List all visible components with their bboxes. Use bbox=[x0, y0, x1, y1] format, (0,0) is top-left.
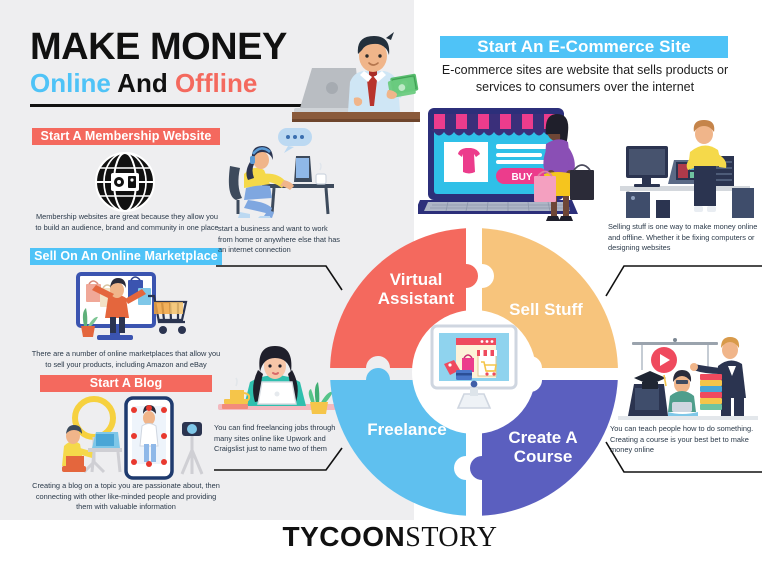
online-course-teacher-icon bbox=[608, 330, 766, 422]
woman-headset-computer-icon bbox=[216, 126, 340, 218]
headline-online: Online bbox=[30, 68, 111, 98]
infographic-canvas: MAKE MONEY Online And Offline bbox=[0, 0, 780, 564]
section-banner-membership[interactable]: Start A Membership Website bbox=[32, 128, 220, 145]
globe-network-icon bbox=[82, 152, 168, 212]
online-shopping-icon bbox=[64, 268, 192, 348]
brand-logo: TYCOONSTORY bbox=[0, 521, 780, 554]
headline-line-1: MAKE MONEY bbox=[30, 28, 320, 66]
headline-offline: Offline bbox=[175, 68, 257, 98]
buy-button-label: BUY bbox=[511, 172, 532, 183]
leader-line-virtual-assistant bbox=[214, 262, 344, 296]
headline-and: And bbox=[117, 68, 168, 98]
man-repairing-computers-icon bbox=[606, 112, 766, 220]
ecommerce-banner[interactable]: Start An E-Commerce Site bbox=[440, 36, 728, 58]
ecommerce-description: E-commerce sites are website that sells … bbox=[420, 62, 750, 96]
puzzle-label-sell-stuff[interactable]: Sell Stuff bbox=[490, 300, 602, 319]
section-banner-marketplace[interactable]: Sell On An Online Marketplace bbox=[30, 248, 222, 265]
callout-body-sell-stuff: Selling stuff is one way to make money o… bbox=[608, 222, 758, 254]
puzzle-label-create-a-course[interactable]: Create A Course bbox=[482, 428, 604, 466]
logo-tycoon: TYCOON bbox=[282, 521, 405, 552]
man-with-money-illustration bbox=[292, 24, 420, 128]
puzzle-label-virtual-assistant[interactable]: Virtual Assistant bbox=[354, 270, 478, 308]
leader-line-sell-stuff bbox=[604, 262, 764, 302]
page-title: MAKE MONEY Online And Offline bbox=[30, 28, 320, 99]
headline-divider bbox=[30, 104, 318, 107]
ecommerce-laptop-illustration: BUY bbox=[418, 104, 618, 234]
headline-line-2: Online And Offline bbox=[30, 69, 320, 99]
section-body-marketplace: There are a number of online marketplace… bbox=[28, 349, 224, 370]
blogging-studio-icon bbox=[48, 392, 212, 482]
leader-line-create-a-course bbox=[604, 436, 764, 476]
callout-body-virtual-assistant: start a business and want to work from h… bbox=[218, 224, 340, 256]
leader-line-freelance bbox=[212, 436, 344, 474]
logo-story: STORY bbox=[405, 522, 497, 553]
puzzle-label-freelance[interactable]: Freelance bbox=[344, 420, 470, 439]
woman-laptop-desk-icon bbox=[212, 330, 342, 416]
puzzle-diagram: Virtual Assistant Sell Stuff Freelance C… bbox=[330, 228, 618, 516]
online-store-monitor-icon bbox=[430, 324, 518, 416]
section-banner-blog[interactable]: Start A Blog bbox=[40, 375, 212, 392]
section-body-blog: Creating a blog on a topic you are passi… bbox=[28, 481, 224, 513]
section-body-membership: Membership websites are great because th… bbox=[32, 212, 222, 233]
